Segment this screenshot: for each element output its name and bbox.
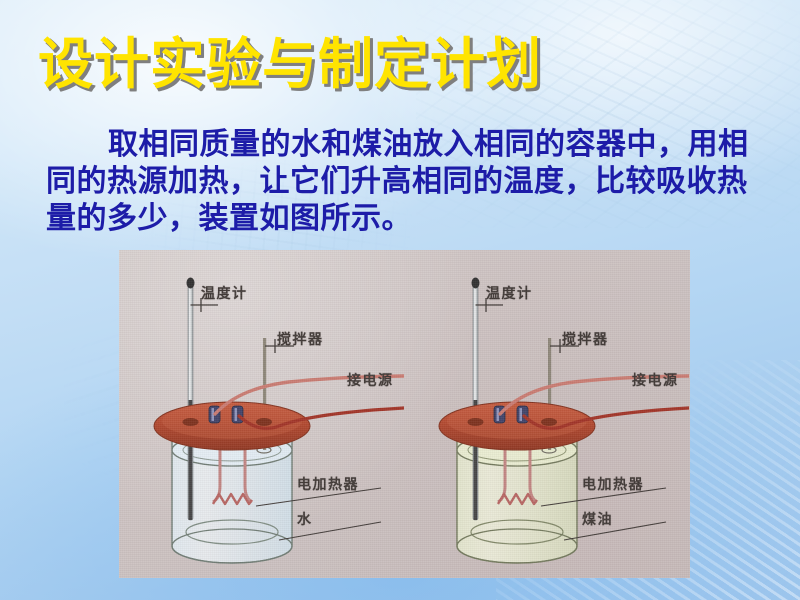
apparatus-kerosene-drawing bbox=[404, 250, 689, 578]
lid-hole-thermometer bbox=[468, 418, 484, 426]
apparatus-kerosene: 温度计 搅拌器 接电源 电加热器 煤油 bbox=[404, 250, 689, 578]
apparatus-water-drawing bbox=[119, 250, 404, 578]
experiment-figure-panel: 温度计 搅拌器 接电源 电加热器 水 bbox=[119, 250, 690, 578]
slide-body-text: 取相同质量的水和煤油放入相同的容器中，用相同的热源加热，让它们升高相同的温度，比… bbox=[46, 126, 758, 237]
leader-liquid bbox=[564, 522, 666, 540]
thermometer-bulb bbox=[187, 278, 195, 289]
label-thermometer-right: 温度计 bbox=[486, 283, 533, 303]
slide-canvas: 设计实验与制定计划 取相同质量的水和煤油放入相同的容器中，用相同的热源加热，让它… bbox=[0, 0, 800, 600]
label-power-left: 接电源 bbox=[347, 370, 394, 390]
lid-hole-thermometer bbox=[183, 418, 199, 426]
thermometer-bulb bbox=[472, 278, 480, 289]
lid-hole-stirrer bbox=[541, 418, 557, 426]
label-liquid-right: 煤油 bbox=[582, 509, 613, 529]
label-power-right: 接电源 bbox=[632, 370, 679, 390]
label-liquid-left: 水 bbox=[297, 509, 313, 529]
label-stirrer-left: 搅拌器 bbox=[277, 329, 324, 349]
leader-liquid bbox=[279, 522, 381, 540]
label-heater-left: 电加热器 bbox=[297, 474, 359, 494]
label-stirrer-right: 搅拌器 bbox=[562, 329, 609, 349]
label-heater-right: 电加热器 bbox=[582, 474, 644, 494]
apparatus-water: 温度计 搅拌器 接电源 电加热器 水 bbox=[119, 250, 404, 578]
lid-hole-stirrer bbox=[256, 418, 272, 426]
label-thermometer-left: 温度计 bbox=[201, 283, 248, 303]
slide-title: 设计实验与制定计划 bbox=[38, 33, 542, 95]
